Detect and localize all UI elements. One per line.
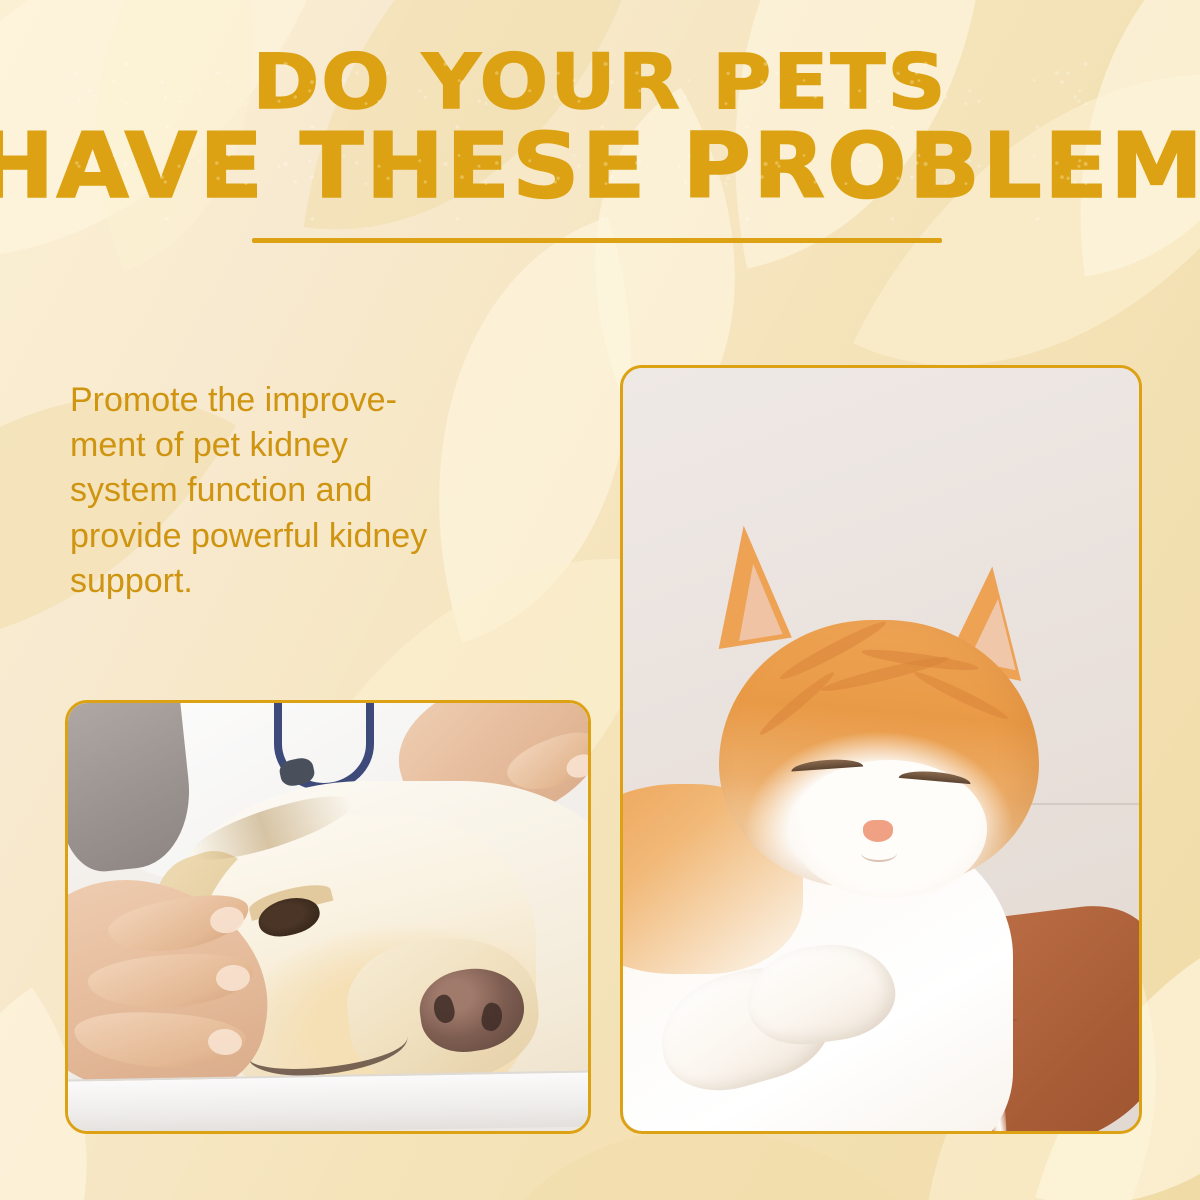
dog-scene [68, 703, 588, 1131]
body-copy-line-5: support. [70, 559, 570, 604]
dog-photo [65, 700, 591, 1134]
cat-mouth [861, 844, 897, 862]
body-copy-line-2: ment of pet kidney [70, 423, 570, 468]
body-copy-line-4: provide powerful kidney [70, 514, 570, 559]
body-copy: Promote the improve- ment of pet kidney … [70, 378, 570, 604]
cat-scene [623, 368, 1139, 1131]
headline-line-2: HAVE THESE PROBLEMS? [0, 125, 1200, 210]
body-copy-line-3: system function and [70, 468, 570, 513]
headline-line-1: DO YOUR PETS [0, 46, 1200, 117]
cat-photo [620, 365, 1142, 1134]
exam-table [68, 1070, 588, 1131]
body-copy-line-1: Promote the improve- [70, 378, 570, 423]
headline: DO YOUR PETS HAVE THESE PROBLEMS? [0, 46, 1200, 210]
cat-nose [863, 820, 893, 842]
headline-underline-rule [252, 238, 942, 243]
promo-poster: DO YOUR PETS HAVE THESE PROBLEMS? Promot… [0, 0, 1200, 1200]
